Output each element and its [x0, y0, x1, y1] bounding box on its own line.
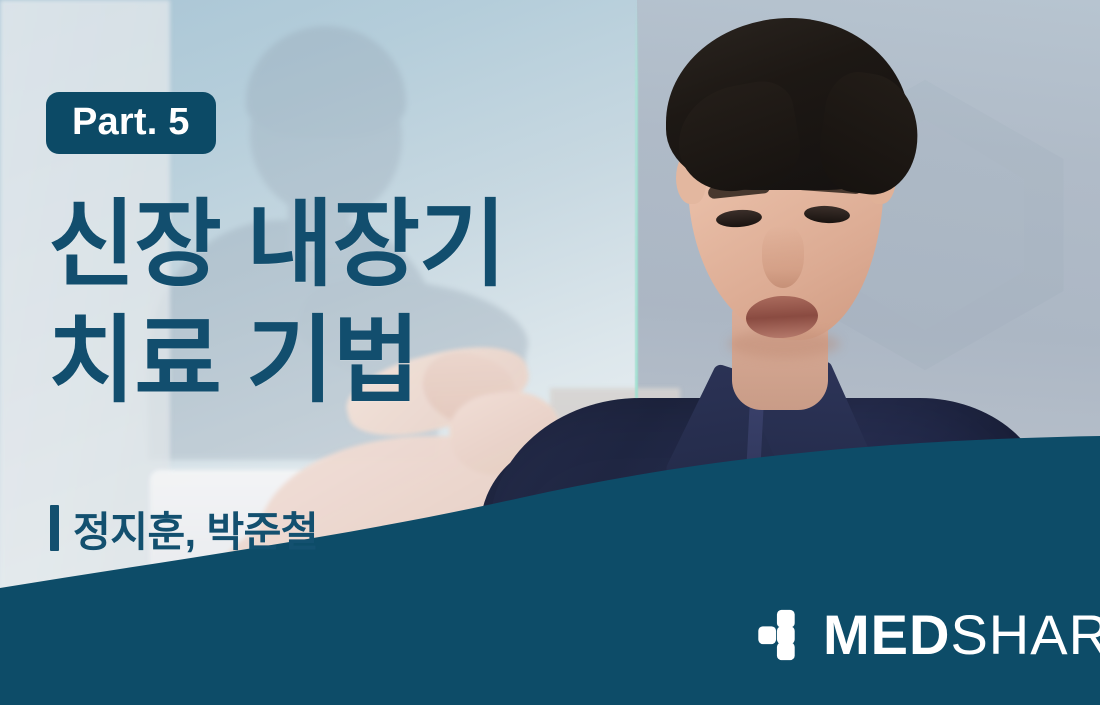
- page-title-line-2: 치료 기법: [48, 304, 505, 420]
- page-title-line-1: 신장 내장기: [48, 188, 505, 304]
- medshare-cross-icon-small: [887, 466, 906, 485]
- authors: 정지훈, 박준철: [50, 498, 318, 558]
- author-names: 정지훈, 박준철: [73, 498, 318, 558]
- part-badge: Part. 5: [46, 92, 216, 154]
- instructor-portrait: MEDSHARE: [470, 0, 1100, 705]
- medshare-cross-icon: [757, 609, 809, 661]
- brand-logo: MEDSHARE: [757, 607, 1100, 663]
- course-title-card: MEDSHARE Part. 5 신장 내장기 치료 기법 정지훈, 박준철 M…: [0, 0, 1100, 705]
- brand-wordmark-light: SHARE: [950, 603, 1100, 666]
- page-title: 신장 내장기 치료 기법: [48, 188, 505, 420]
- author-accent-bar: [50, 505, 59, 551]
- brand-wordmark-bold: MED: [823, 603, 950, 666]
- brand-wordmark: MEDSHARE: [823, 607, 1100, 663]
